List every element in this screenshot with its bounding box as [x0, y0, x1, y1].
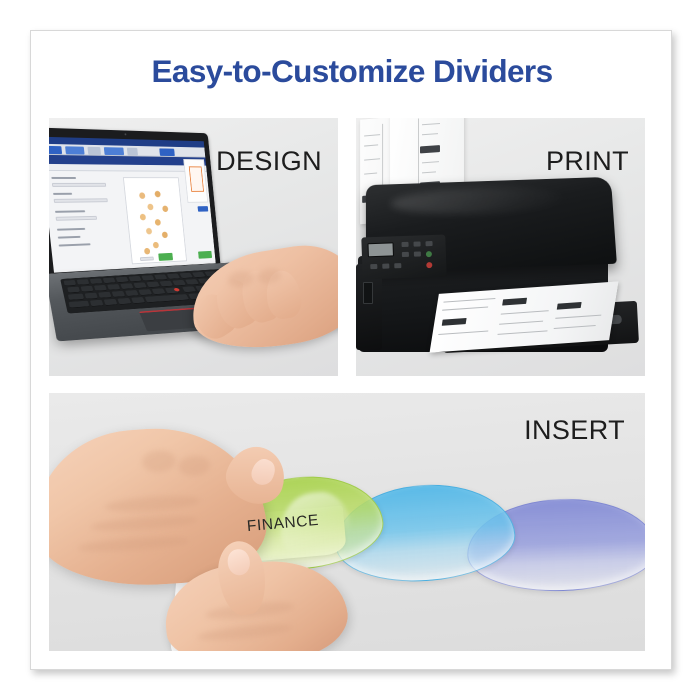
done-button[interactable]	[198, 251, 212, 259]
panel-label-print: PRINT	[546, 146, 629, 177]
printed-text-row	[555, 315, 601, 320]
key[interactable]	[117, 298, 131, 304]
control-button[interactable]	[382, 264, 389, 269]
key[interactable]	[68, 294, 84, 300]
webcam-icon	[124, 133, 126, 135]
key[interactable]	[67, 287, 80, 293]
key[interactable]	[104, 299, 118, 305]
key[interactable]	[64, 280, 76, 286]
key[interactable]	[138, 289, 152, 295]
key[interactable]	[81, 286, 94, 292]
sheet-text-line	[364, 134, 380, 137]
key[interactable]	[146, 282, 159, 288]
printed-tab-label	[557, 302, 582, 310]
form-label	[53, 193, 72, 195]
stop-button[interactable]	[426, 262, 432, 268]
key[interactable]	[116, 277, 129, 283]
printer-lcd-display	[367, 242, 393, 257]
sheet-text-line	[364, 144, 378, 146]
key[interactable]	[185, 279, 199, 285]
panel-label-design: DESIGN	[216, 146, 322, 177]
key[interactable]	[90, 300, 103, 306]
sheet-text-line	[364, 158, 380, 161]
printer-control-panel[interactable]	[361, 235, 446, 280]
key[interactable]	[129, 276, 142, 282]
design-canvas[interactable]	[123, 177, 187, 264]
key[interactable]	[94, 285, 107, 291]
key[interactable]	[125, 290, 139, 296]
apply-button[interactable]	[198, 206, 209, 212]
printed-text-row	[442, 306, 488, 311]
control-button[interactable]	[370, 264, 377, 269]
ribbon-chip[interactable]	[65, 146, 85, 154]
printed-tab-label	[502, 298, 527, 306]
next-button[interactable]	[158, 253, 173, 261]
key[interactable]	[112, 291, 125, 297]
palm-crease	[104, 493, 201, 514]
key[interactable]	[107, 284, 120, 290]
divider-pattern-preview	[132, 186, 178, 258]
ribbon-chip[interactable]	[87, 146, 101, 154]
printed-text-row	[554, 325, 596, 329]
control-button[interactable]	[413, 241, 420, 246]
knuckle-shading	[141, 449, 176, 473]
design-properties-panel	[183, 159, 208, 203]
ribbon-chip[interactable]	[127, 147, 138, 155]
fingernail	[226, 548, 251, 577]
form-label	[57, 228, 85, 231]
key[interactable]	[77, 279, 90, 285]
key[interactable]	[152, 288, 166, 294]
shift-key[interactable]	[69, 301, 90, 308]
control-button[interactable]	[414, 251, 421, 256]
form-label	[59, 243, 91, 246]
sheet-text-line	[422, 123, 440, 125]
space-key[interactable]	[145, 294, 189, 302]
form-input[interactable]	[52, 183, 106, 187]
key[interactable]	[179, 273, 193, 278]
sheet-text-line	[422, 161, 439, 163]
key[interactable]	[192, 272, 206, 277]
palm-crease	[197, 621, 294, 643]
control-button[interactable]	[394, 263, 401, 268]
laptop-screen	[49, 137, 216, 273]
product-card: Easy-to-Customize Dividers	[30, 30, 672, 670]
control-button[interactable]	[402, 252, 409, 257]
key[interactable]	[85, 293, 98, 299]
key[interactable]	[120, 283, 133, 289]
form-label	[58, 236, 81, 239]
ribbon-chip[interactable]	[49, 145, 62, 153]
palm-crease	[90, 514, 199, 534]
key[interactable]	[103, 278, 116, 284]
divider-tab-mark	[420, 145, 440, 153]
panel-insert: FINANCE INSERT	[49, 393, 645, 651]
key[interactable]	[159, 281, 173, 287]
palm-crease	[77, 534, 190, 554]
memory-card-slot[interactable]	[363, 282, 373, 304]
key[interactable]	[90, 278, 103, 284]
sheet-text-line	[422, 133, 438, 135]
thumbnail	[248, 456, 279, 489]
form-label	[55, 210, 85, 213]
start-button[interactable]	[426, 251, 432, 257]
ribbon-chip[interactable]	[104, 147, 124, 155]
control-button[interactable]	[401, 242, 408, 247]
printed-text-row	[443, 298, 495, 303]
key[interactable]	[131, 297, 145, 303]
page-title: Easy-to-Customize Dividers	[31, 53, 673, 90]
control-button[interactable]	[425, 241, 432, 246]
key[interactable]	[172, 280, 186, 286]
knuckle-shading	[178, 455, 211, 477]
laptop-lid	[49, 127, 221, 280]
printed-text-row	[501, 310, 549, 315]
key[interactable]	[133, 282, 146, 288]
ribbon-chip[interactable]	[159, 148, 175, 156]
key[interactable]	[182, 286, 196, 292]
cancel-button[interactable]	[140, 257, 154, 261]
printed-text-row	[499, 321, 543, 325]
sheet-text-line	[422, 171, 436, 173]
key[interactable]	[167, 273, 180, 278]
lid-highlight	[390, 185, 568, 217]
form-input[interactable]	[54, 198, 108, 203]
printed-text-row	[497, 330, 547, 335]
key[interactable]	[141, 275, 154, 280]
selection-bounding-box	[189, 166, 204, 191]
sheet-text-line	[364, 173, 377, 175]
panel-design: DESIGN	[49, 118, 338, 376]
form-input[interactable]	[56, 216, 97, 221]
panel-label-insert: INSERT	[524, 415, 625, 446]
panel-print: PRINT	[356, 118, 645, 376]
key[interactable]	[98, 292, 111, 298]
printed-tab-label	[442, 318, 467, 326]
form-label	[51, 177, 76, 179]
key[interactable]	[154, 274, 167, 279]
printed-text-row	[438, 331, 488, 336]
